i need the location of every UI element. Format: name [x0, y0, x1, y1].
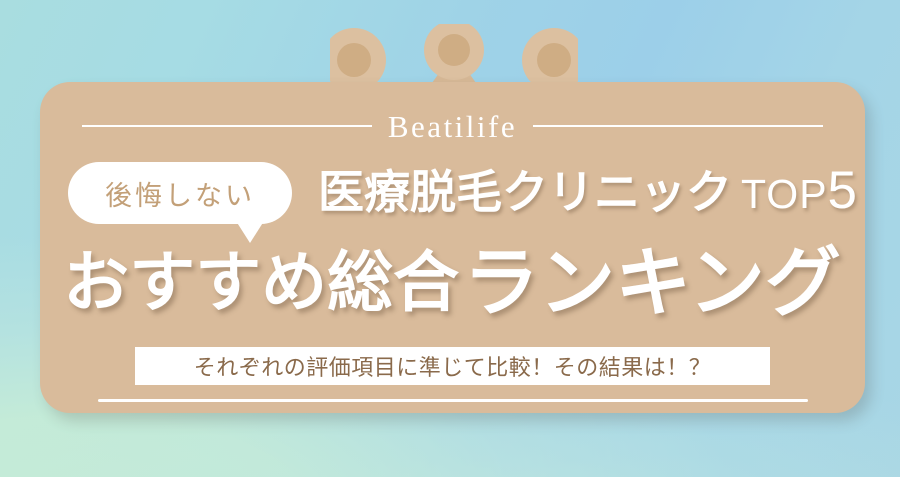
brand-name: Beatilife — [372, 111, 533, 142]
subtitle-text: それぞれの評価項目に準じて比較！その結果は！？ — [194, 350, 712, 382]
divider-line-left — [82, 125, 372, 127]
headline-line-2: おすすめ総合 ランキング — [46, 240, 858, 326]
badge-bubble: 後悔しない — [68, 162, 292, 224]
brand-row: Beatilife — [40, 103, 865, 149]
headline-top-label: TOP — [741, 174, 828, 215]
headline-top-number: 5 — [828, 164, 857, 217]
divider-line-right — [533, 125, 823, 127]
banner-image-root: Beatilife 後悔しない 医療脱毛クリニック TOP 5 おすすめ総合 ラ… — [0, 0, 900, 477]
headline-line-2-part-b: ランキング — [463, 245, 841, 321]
subtitle-banner: それぞれの評価項目に準じて比較！その結果は！？ — [135, 347, 770, 385]
headline-line-1-japanese: 医療脱毛クリニック — [318, 169, 732, 215]
headline-line-2-part-a: おすすめ総合 — [63, 250, 459, 316]
badge-label: 後悔しない — [68, 162, 292, 224]
headline-line-1: 医療脱毛クリニック TOP 5 — [318, 164, 857, 220]
bottom-divider-line — [98, 399, 808, 402]
